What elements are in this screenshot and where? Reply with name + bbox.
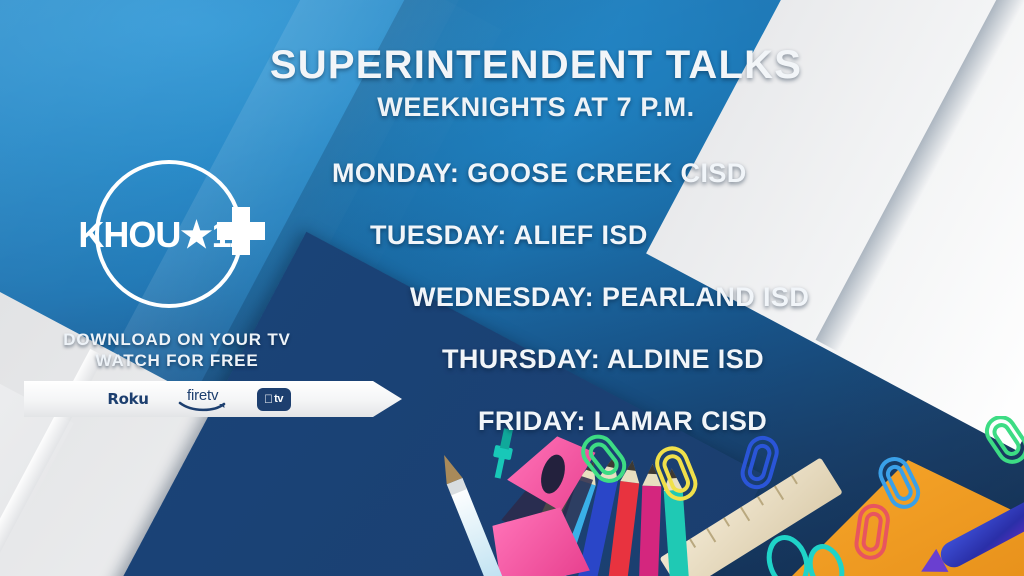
schedule-row-thursday: THURSDAY: ALDINE ISD [300,328,860,390]
schedule-row-monday: MONDAY: GOOSE CREEK CISD [300,142,860,204]
roku-logo: Roku [107,390,148,408]
fire-tv-logo: firetv [175,386,231,412]
promo-line-1: DOWNLOAD ON YOUR TV [52,330,302,351]
broadcast-graphic: SUPERINTENDENT TALKS WEEKNIGHTS AT 7 P.M… [0,0,1024,576]
apple-icon:  [264,393,273,405]
streaming-platforms-banner: Roku firetv  tv [24,381,402,417]
promo-line-2: WATCH FOR FREE [52,351,302,372]
schedule-row-tuesday: TUESDAY: ALIEF ISD [300,204,860,266]
schedule-row-wednesday: WEDNESDAY: PEARLAND ISD [300,266,860,328]
program-airtime: WEEKNIGHTS AT 7 P.M. [236,92,836,123]
fire-tv-smile-icon [178,401,228,413]
promo-text: DOWNLOAD ON YOUR TV WATCH FOR FREE [52,330,302,371]
khou-logo: KHOU★11 [89,150,265,318]
program-title: SUPERINTENDENT TALKS [236,44,836,86]
apple-tv-text: tv [274,393,283,405]
headline-block: SUPERINTENDENT TALKS WEEKNIGHTS AT 7 P.M… [236,44,836,123]
khou-logo-block: KHOU★11 DOWNLOAD ON YOUR TV WATCH FOR FR… [52,150,302,371]
apple-tv-logo:  tv [257,388,291,411]
